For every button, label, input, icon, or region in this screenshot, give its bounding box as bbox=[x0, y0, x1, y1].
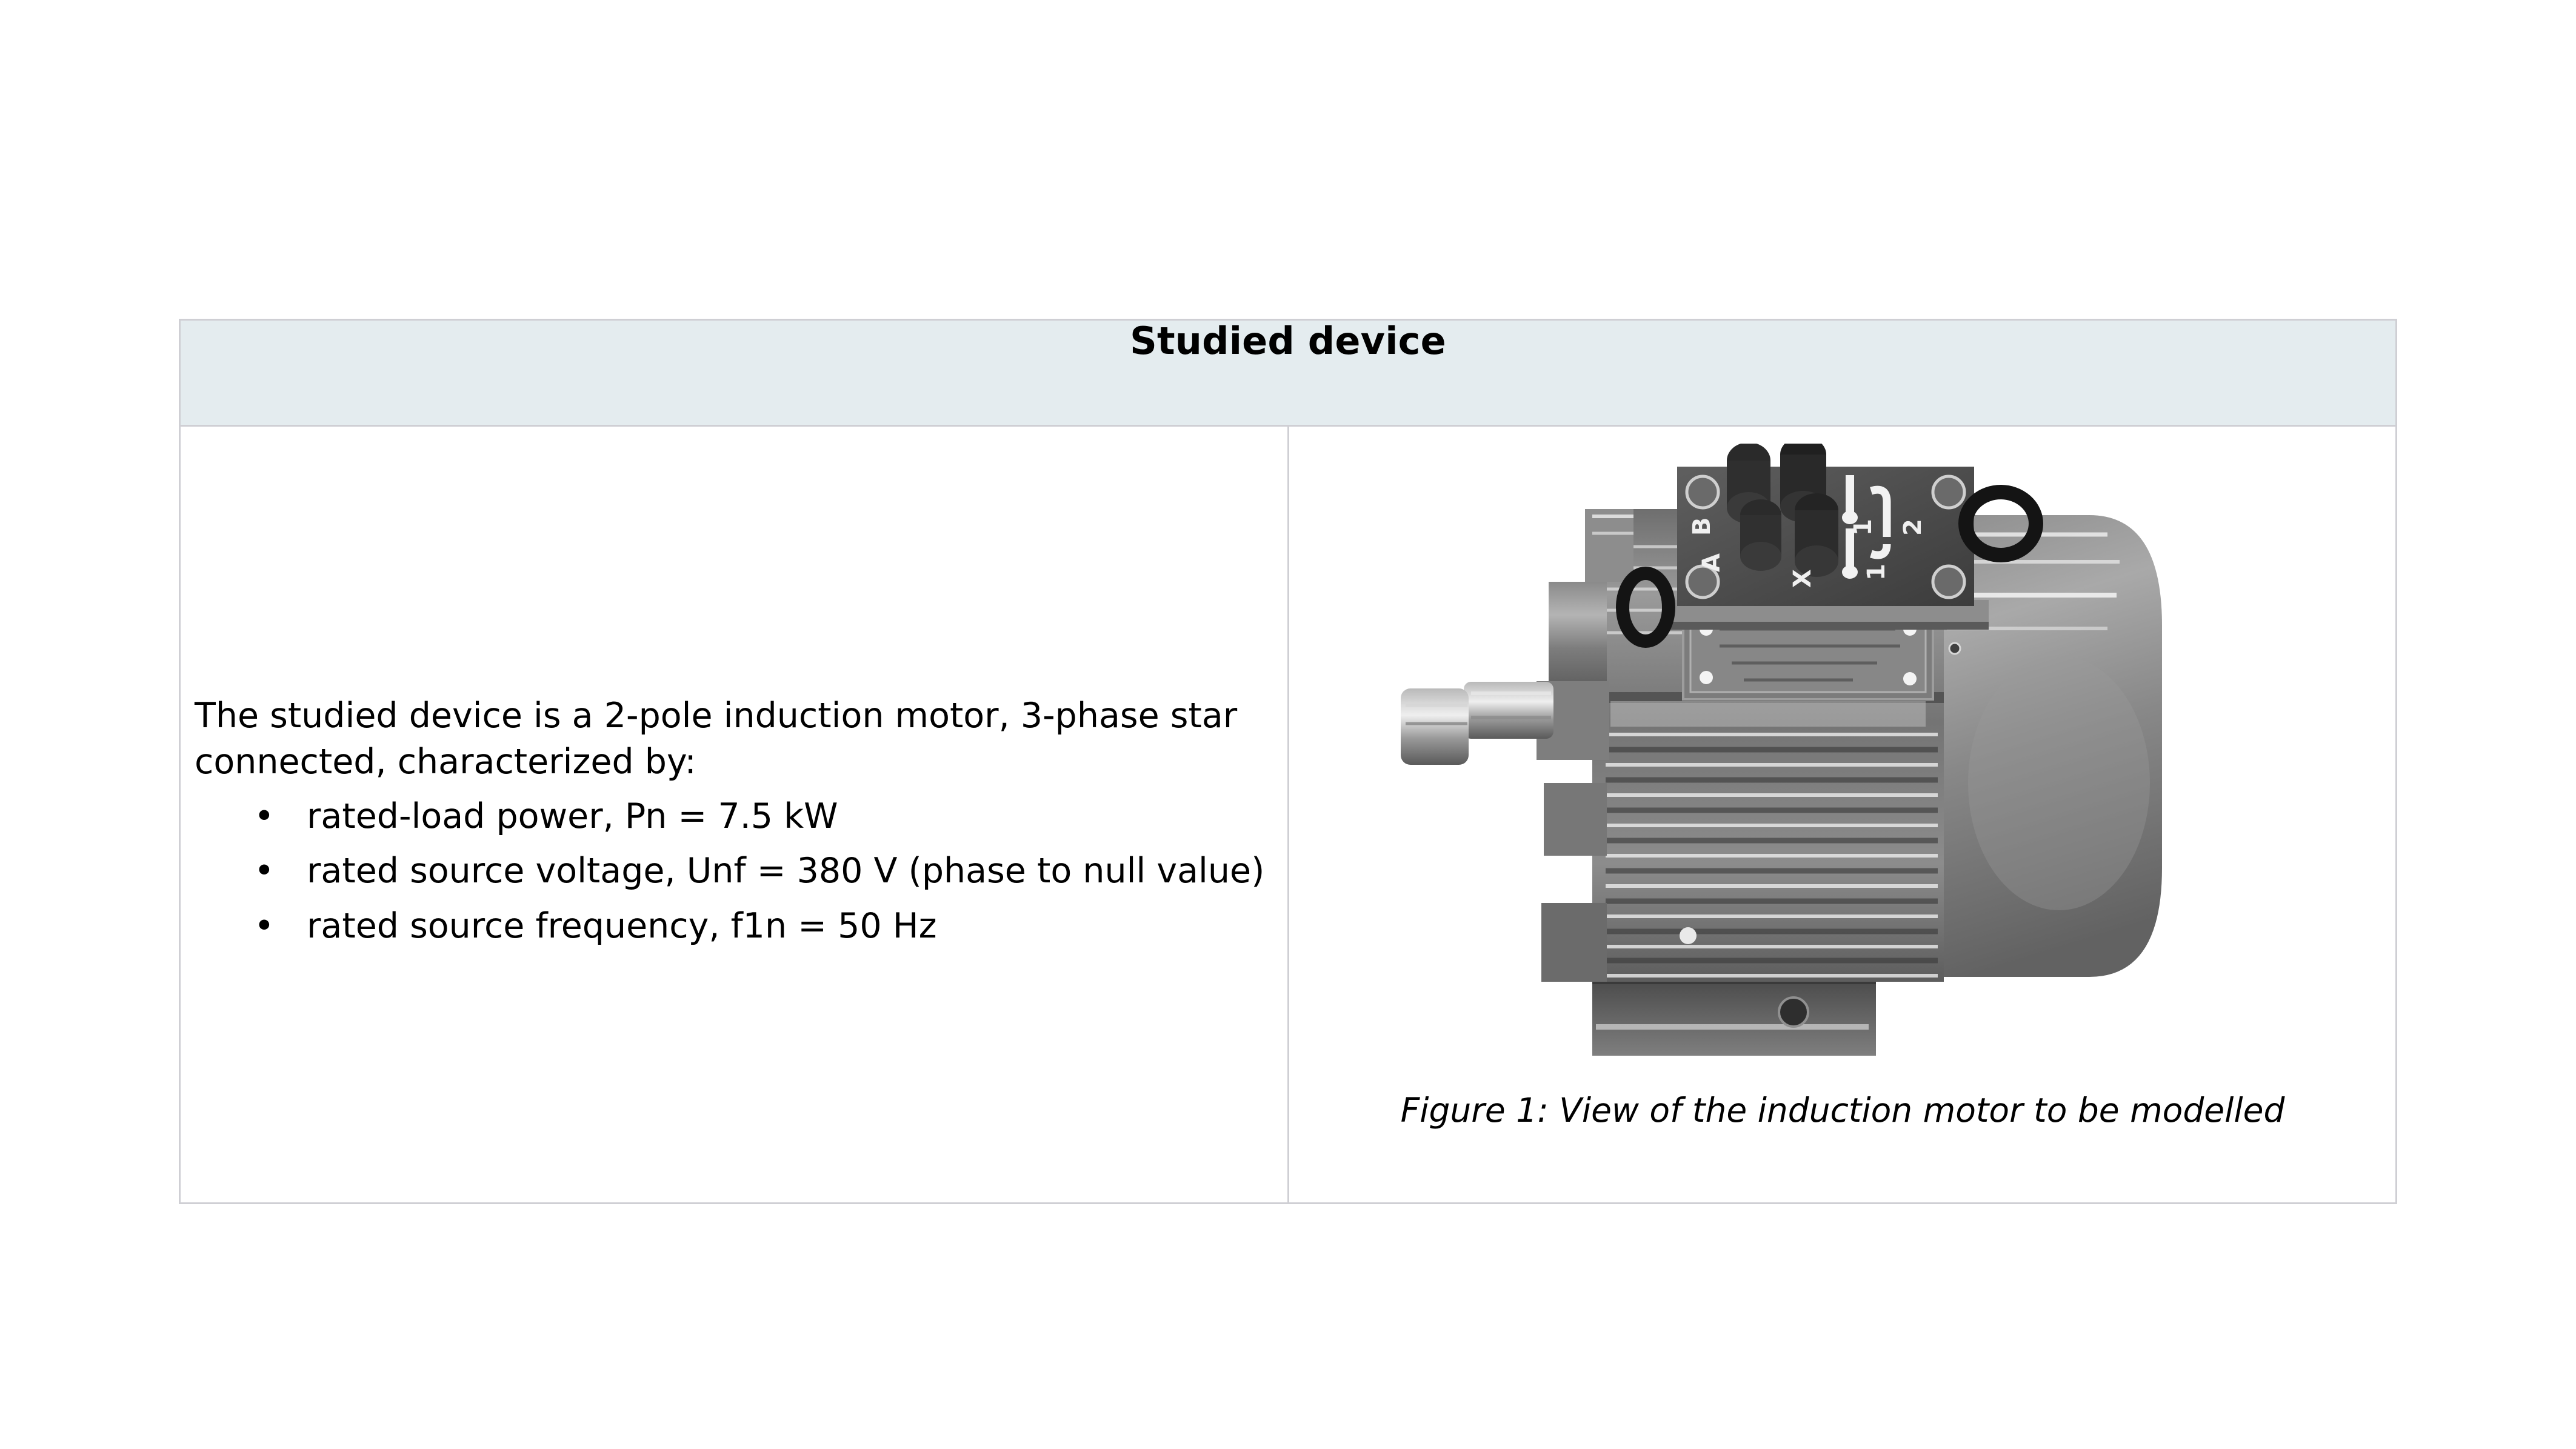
specifications-content: The studied device is a 2-pole induction… bbox=[195, 693, 1280, 959]
list-item: • rated source frequency, f1n = 50 Hz bbox=[195, 904, 1276, 950]
svg-text:1: 1 bbox=[1863, 564, 1890, 581]
bullet-icon: • bbox=[254, 904, 275, 950]
drive-shaft bbox=[1401, 682, 1553, 765]
table-header-row: Studied device bbox=[180, 320, 2397, 426]
specifications-list: • rated-load power, Pn = 7.5 kW • rated … bbox=[195, 794, 1280, 950]
figure-container: B A X 1 2 1 bbox=[1289, 427, 2397, 1202]
studied-device-table: Studied device The studied device is a 2… bbox=[179, 319, 2397, 1204]
bullet-icon: • bbox=[254, 848, 275, 894]
list-item: • rated source voltage, Unf = 380 V (pha… bbox=[195, 848, 1276, 894]
intro-paragraph: The studied device is a 2-pole induction… bbox=[195, 693, 1261, 785]
list-item: • rated-load power, Pn = 7.5 kW bbox=[195, 794, 1276, 840]
induction-motor-photo: B A X 1 2 1 bbox=[1392, 444, 2198, 1086]
svg-text:B: B bbox=[1688, 518, 1716, 536]
table-body-row: The studied device is a 2-pole induction… bbox=[180, 426, 2397, 1204]
specifications-cell: The studied device is a 2-pole induction… bbox=[180, 426, 1289, 1204]
figure-caption: Figure 1: View of the induction motor to… bbox=[1289, 1090, 2397, 1130]
bullet-icon: • bbox=[254, 794, 275, 840]
mounting-base bbox=[1592, 978, 1876, 1056]
figure-cell: B A X 1 2 1 bbox=[1288, 426, 2397, 1204]
svg-text:X: X bbox=[1789, 569, 1817, 588]
page-title: Studied device bbox=[181, 321, 2395, 362]
document-page: Studied device The studied device is a 2… bbox=[0, 0, 2576, 1449]
svg-text:1: 1 bbox=[1849, 519, 1877, 536]
terminal-box: B A X 1 2 1 bbox=[1664, 444, 1989, 630]
table-header-cell: Studied device bbox=[180, 320, 2397, 426]
list-item-label: rated source voltage, Unf = 380 V (phase… bbox=[307, 851, 1264, 891]
list-item-label: rated source frequency, f1n = 50 Hz bbox=[307, 906, 937, 946]
svg-text:A: A bbox=[1698, 553, 1726, 572]
svg-text:2: 2 bbox=[1899, 519, 1927, 536]
list-item-label: rated-load power, Pn = 7.5 kW bbox=[307, 796, 838, 836]
